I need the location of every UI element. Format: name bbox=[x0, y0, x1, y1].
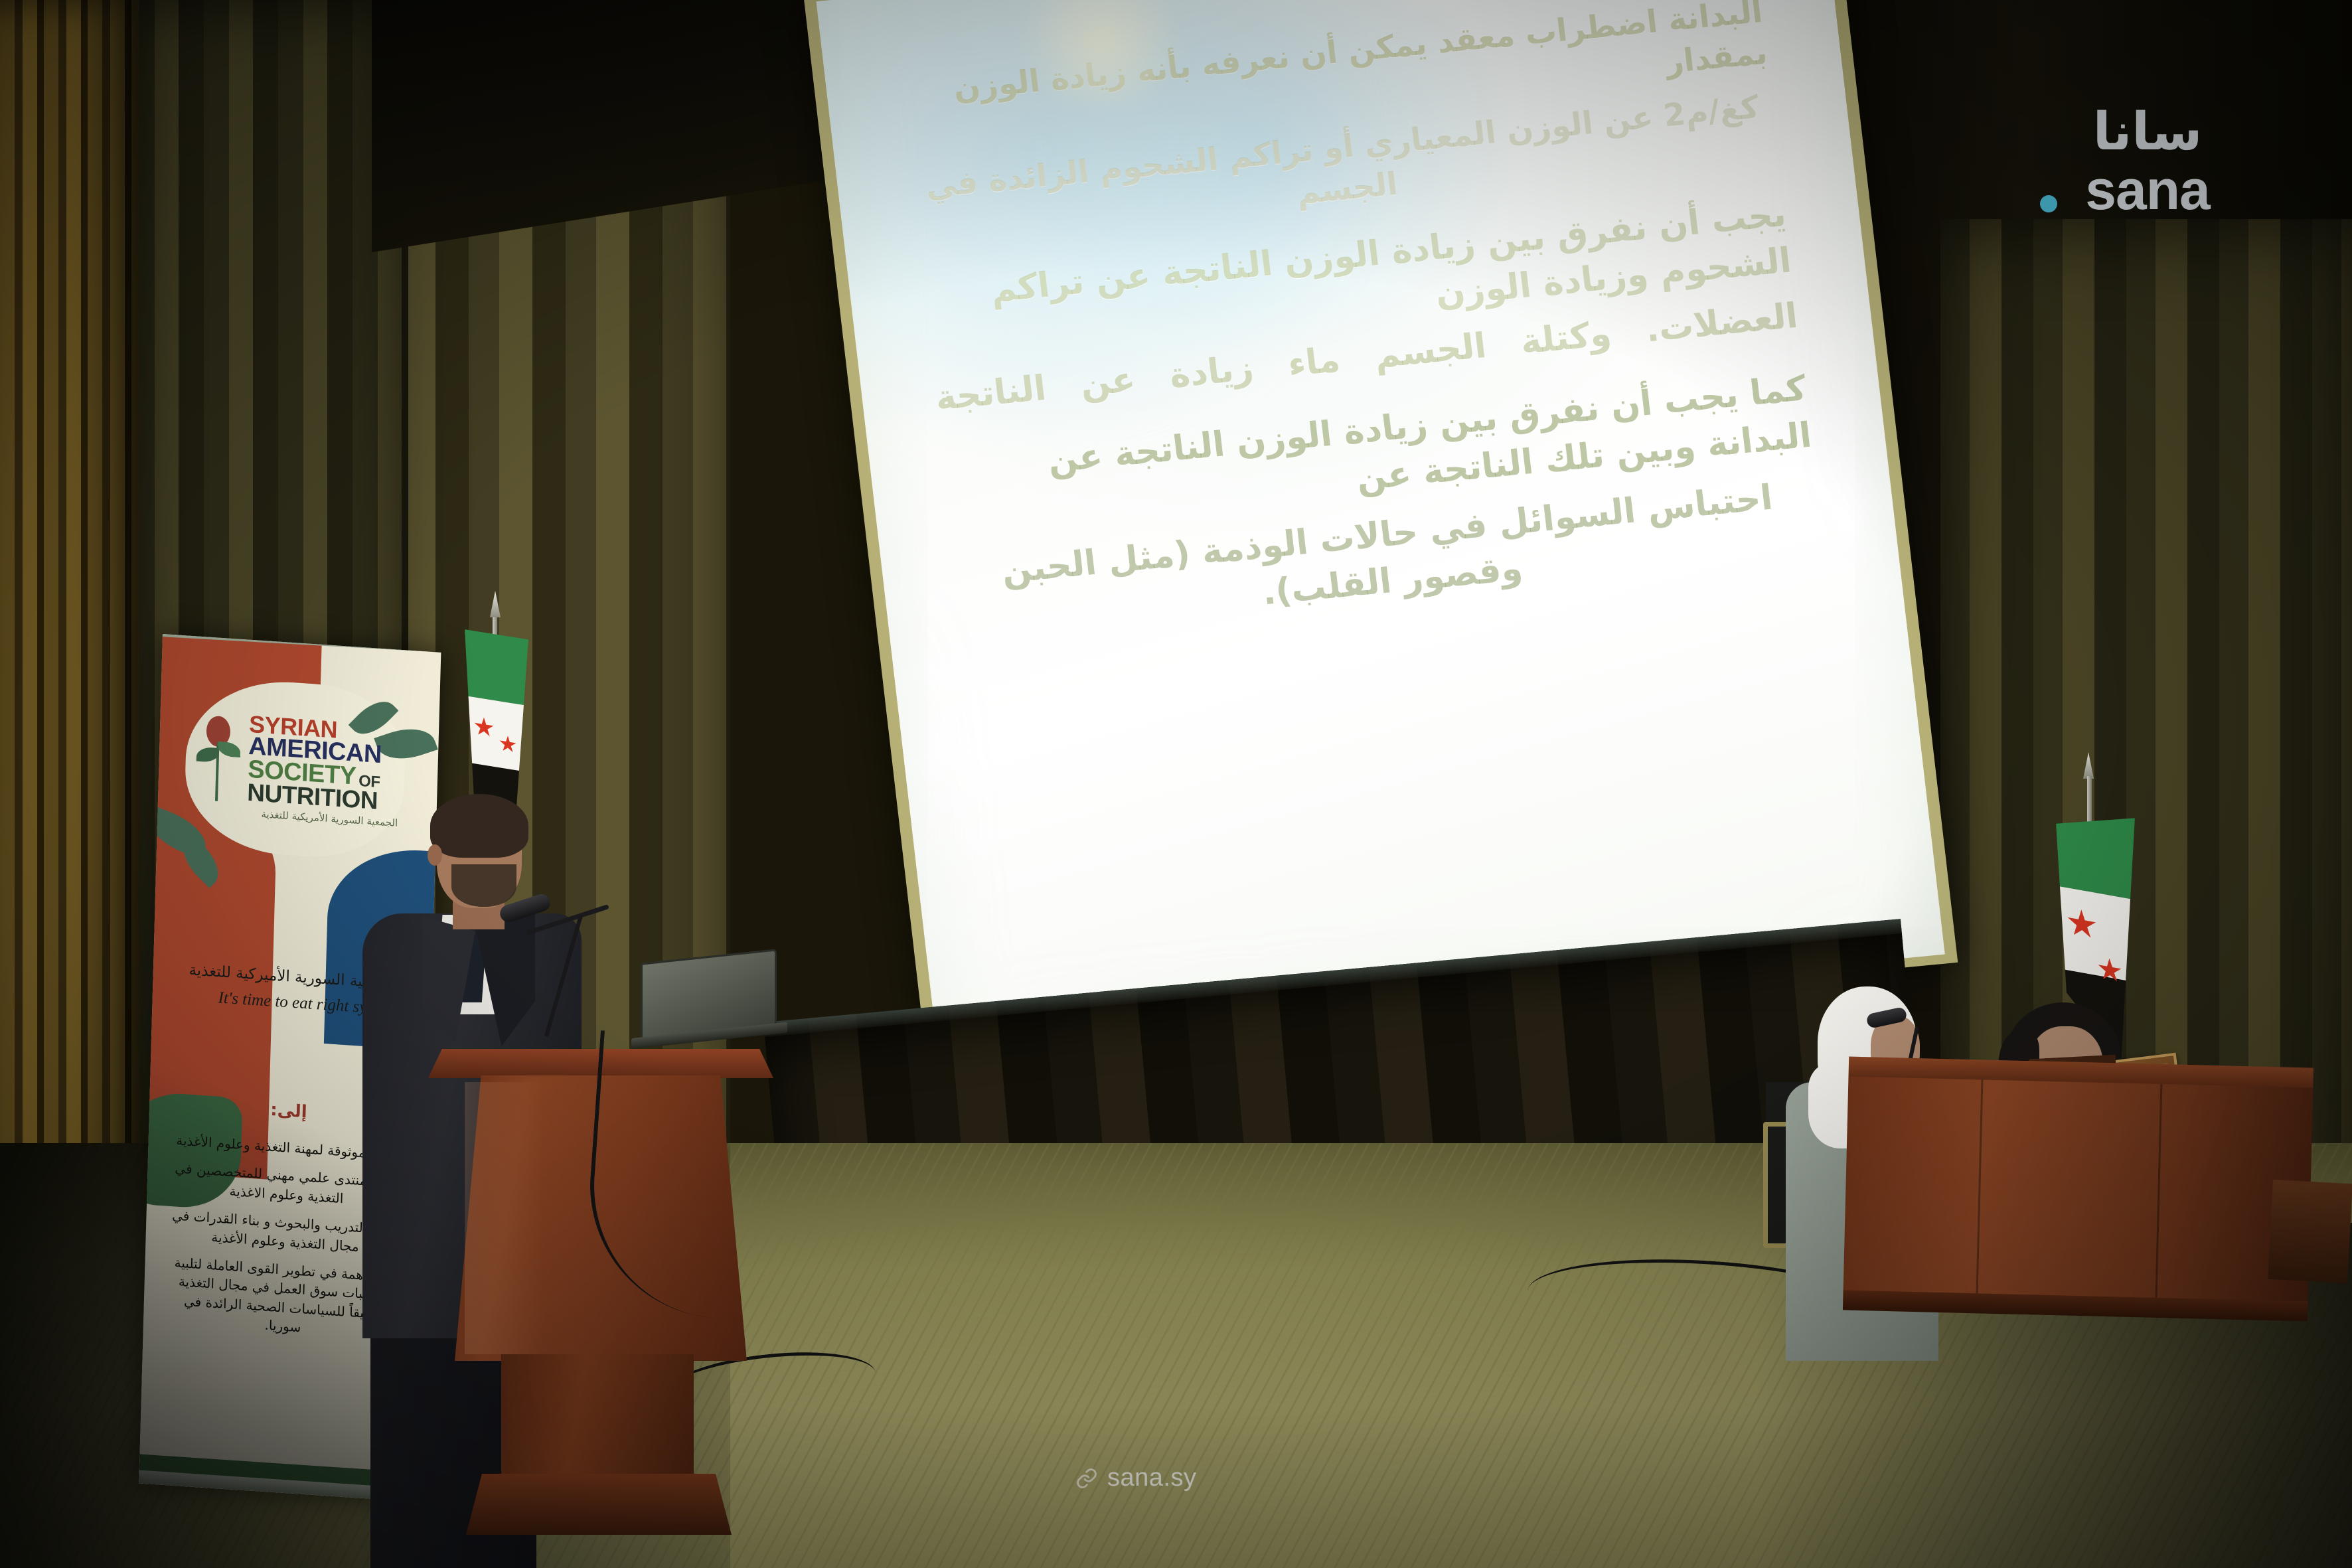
panel-table bbox=[1842, 1057, 2313, 1347]
flag-stripe-white bbox=[465, 696, 528, 772]
sana-logo-latin: sana bbox=[2021, 161, 2274, 219]
lens-flare bbox=[996, 0, 1208, 106]
flag-stripe-green bbox=[465, 629, 528, 706]
slide-word-body: الجسم bbox=[1372, 323, 1489, 380]
speaker-beard bbox=[451, 864, 516, 907]
slide-word-mass: وكتلة bbox=[1518, 311, 1614, 366]
slide-word-water: ماء bbox=[1285, 337, 1342, 388]
speaker-ear bbox=[428, 844, 442, 866]
presentation-slide: البدانة اضطراب معقد يمكن أن نعرفه بأنه ز… bbox=[817, 0, 1945, 1052]
speaker-hair bbox=[430, 794, 528, 858]
projection-screen: البدانة اضطراب معقد يمكن أن نعرفه بأنه ز… bbox=[817, 0, 1945, 1052]
sana-logo-dot-icon bbox=[2040, 195, 2057, 212]
projection-screen-frame: البدانة اضطراب معقد يمكن أن نعرفه بأنه ز… bbox=[803, 0, 1958, 1061]
link-icon bbox=[1075, 1467, 1098, 1490]
slide-word-from: عن bbox=[1078, 356, 1138, 408]
podium-base bbox=[466, 1474, 732, 1535]
panel-table-front bbox=[1843, 1077, 2313, 1307]
slide-word-muscles: العضلات. bbox=[1643, 293, 1800, 354]
side-chair bbox=[2268, 1180, 2352, 1283]
watermark: sana.sy bbox=[1075, 1464, 1196, 1492]
podium-column bbox=[501, 1354, 694, 1480]
sana-logo: سانا sana bbox=[2021, 106, 2274, 219]
sana-logo-latin-text: sana bbox=[2085, 159, 2209, 221]
slide-word-resulting: الناتجة bbox=[933, 365, 1049, 422]
conference-photo: البدانة اضطراب معقد يمكن أن نعرفه بأنه ز… bbox=[0, 0, 2352, 1568]
slide-word-increase: زيادة bbox=[1167, 345, 1256, 400]
laptop[interactable] bbox=[641, 949, 777, 1042]
podium-highlight bbox=[465, 1082, 544, 1354]
sana-logo-arabic: سانا bbox=[2021, 106, 2274, 158]
watermark-text: sana.sy bbox=[1107, 1464, 1196, 1492]
